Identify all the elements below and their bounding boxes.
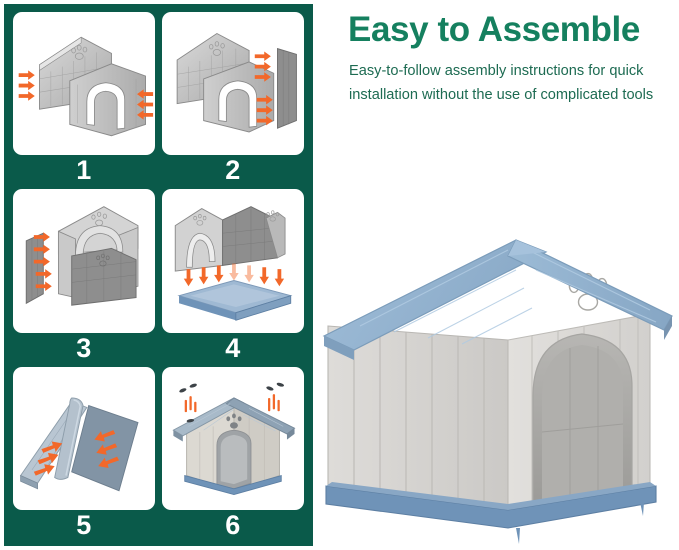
step-2: 2 — [162, 12, 304, 185]
feature-content: Easy to Assemble Easy-to-follow assembly… — [320, 0, 679, 550]
assembly-arrow-group-upper — [255, 51, 271, 81]
step-6-illustration — [162, 367, 304, 510]
step-1-number: 1 — [13, 155, 155, 185]
step-5-number: 5 — [13, 510, 155, 540]
feature-description: Easy-to-follow assembly instructions for… — [349, 60, 669, 107]
assembly-arrow-group-left — [19, 70, 35, 100]
product-photo — [320, 218, 679, 550]
side-wall-panel — [277, 49, 296, 129]
step-6: 6 — [162, 367, 304, 540]
step-4-illustration — [162, 189, 304, 332]
step-1: 1 — [13, 12, 155, 185]
dog-house-product-illustration — [320, 218, 679, 550]
product-feature-image: 1 — [0, 0, 679, 550]
step-4-number: 4 — [162, 333, 304, 363]
assembly-steps-panel: 1 — [4, 4, 313, 546]
assembly-arrow-group-right — [137, 89, 153, 119]
step-2-card — [162, 12, 304, 155]
step-4: 4 — [162, 189, 304, 362]
step-1-card — [13, 12, 155, 155]
step-4-card — [162, 189, 304, 332]
back-wall-panel — [72, 249, 136, 306]
step-3-card — [13, 189, 155, 332]
ground-stake — [640, 502, 644, 516]
step-6-card — [162, 367, 304, 510]
ground-stake — [516, 528, 520, 544]
step-2-number: 2 — [162, 155, 304, 185]
assembled-wall-box — [175, 207, 285, 271]
step-3: 3 — [13, 189, 155, 362]
step-3-number: 3 — [13, 333, 155, 363]
side-wall-panel — [26, 234, 43, 304]
page-title: Easy to Assemble — [348, 10, 640, 50]
step-3-illustration — [13, 189, 155, 332]
step-2-illustration — [162, 12, 304, 155]
step-1-illustration — [13, 12, 155, 155]
base-floor-panel — [179, 281, 291, 321]
step-5-card — [13, 367, 155, 510]
step-5-illustration — [13, 367, 155, 510]
step-5: 5 — [13, 367, 155, 540]
arched-doorway — [533, 334, 632, 510]
assembly-arrow-group-lower — [257, 95, 273, 125]
step-6-number: 6 — [162, 510, 304, 540]
